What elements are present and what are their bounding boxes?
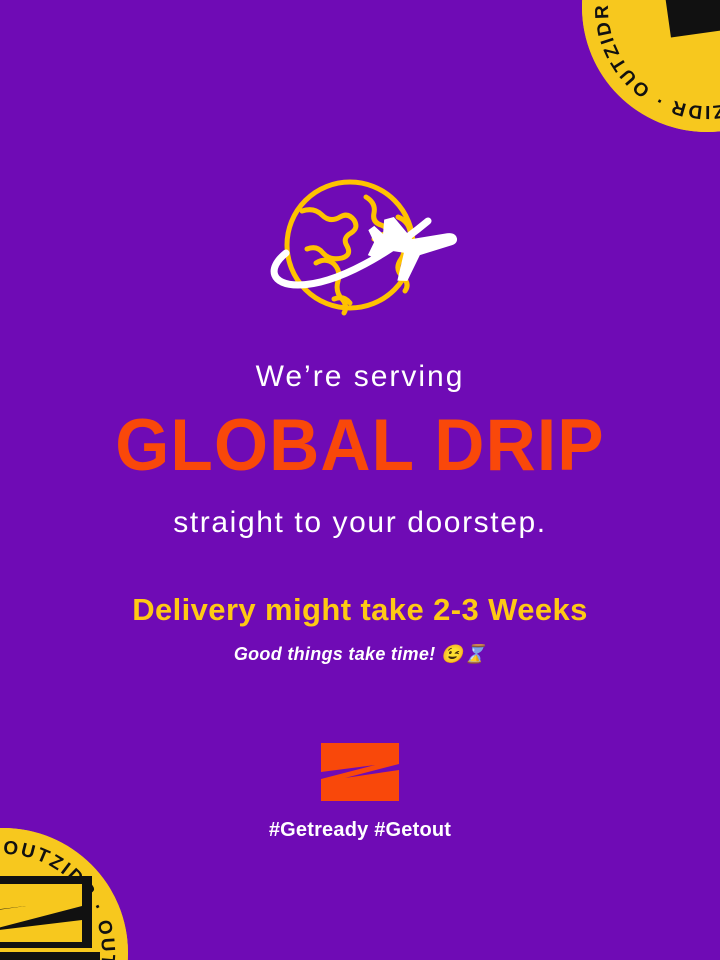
globe-airplane-icon xyxy=(242,173,478,343)
badge-z-mark xyxy=(0,876,92,948)
page-title: GLOBAL DRIP xyxy=(0,410,720,483)
tagline-text: Good things take time! 😉⌛ xyxy=(0,645,720,663)
badge-wordmark: OUTZIDR xyxy=(0,952,100,960)
airplane-icon xyxy=(355,191,460,295)
delivery-notice: Delivery might take 2-3 Weeks xyxy=(0,594,720,625)
badge-top-right: OUTZIDR · OUTZIDR · OUTZIDR · OUTZIDR · xyxy=(582,0,720,132)
eyebrow-text: We’re serving xyxy=(0,362,720,392)
hero-illustration xyxy=(0,170,720,345)
globe-continents xyxy=(302,197,410,313)
footer-lockup: #Getready #Getout xyxy=(0,741,720,842)
svg-text:OUTZIDR: OUTZIDR xyxy=(0,956,75,960)
hashtags-text: #Getready #Getout xyxy=(269,819,451,842)
promo-poster: { "canvas": { "width": 720, "height": 96… xyxy=(0,0,720,960)
badge-bottom-left: OUTZIDR · OUTZIDR · OUTZIDR · OUTZIDR · … xyxy=(0,828,128,960)
copy-block: We’re serving GLOBAL DRIP straight to yo… xyxy=(0,362,720,663)
z-logo-mark xyxy=(319,741,401,803)
subline-text: straight to your doorstep. xyxy=(0,508,720,538)
